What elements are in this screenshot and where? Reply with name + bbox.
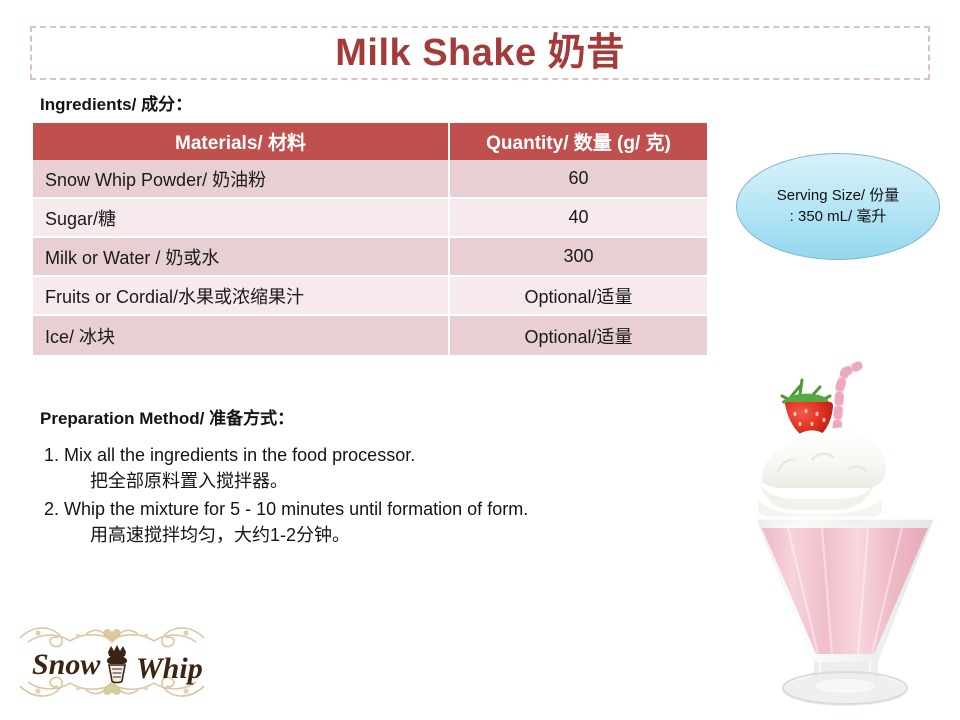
- preparation-heading: Preparation Method/ 准备方式：: [40, 404, 294, 429]
- snow-whip-logo-icon: Snow Whip: [8, 612, 216, 712]
- cell-quantity: 60: [450, 160, 707, 199]
- table-row: Sugar/糖 40: [33, 199, 707, 238]
- cell-material: Snow Whip Powder/ 奶油粉: [33, 160, 450, 199]
- cell-material: Sugar/糖: [33, 199, 450, 238]
- whipped-cream-icon: [758, 428, 886, 527]
- serving-size-line-2: : 350 mL/ 毫升: [790, 207, 887, 227]
- glass-icon: [756, 518, 934, 706]
- table-body: Snow Whip Powder/ 奶油粉 60 Sugar/糖 40 Milk…: [33, 160, 707, 355]
- logo-word-whip: Whip: [136, 652, 203, 685]
- cupcake-icon: [107, 645, 127, 683]
- table-row: Ice/ 冰块 Optional/适量: [33, 316, 707, 355]
- table-header-row: Materials/ 材料 Quantity/ 数量 (g/ 克): [33, 123, 707, 160]
- cell-material: Milk or Water / 奶或水: [33, 238, 450, 277]
- list-item: 1. Mix all the ingredients in the food p…: [44, 442, 704, 494]
- serving-size-badge: Serving Size/ 份量 : 350 mL/ 毫升: [736, 153, 940, 260]
- title-box: Milk Shake 奶昔: [30, 26, 930, 80]
- cell-quantity: 40: [450, 199, 707, 238]
- table-row: Milk or Water / 奶或水 300: [33, 238, 707, 277]
- cell-material: Ice/ 冰块: [33, 316, 450, 355]
- column-header-quantity: Quantity/ 数量 (g/ 克): [450, 123, 707, 160]
- ingredients-table: Materials/ 材料 Quantity/ 数量 (g/ 克) Snow W…: [33, 123, 707, 355]
- cell-quantity: Optional/适量: [450, 277, 707, 316]
- ingredients-heading: Ingredients/ 成分：: [40, 90, 192, 115]
- list-item: 2. Whip the mixture for 5 - 10 minutes u…: [44, 496, 704, 548]
- page-title: Milk Shake 奶昔: [335, 34, 624, 72]
- cell-quantity: 300: [450, 238, 707, 277]
- logo-word-snow: Snow: [32, 648, 101, 681]
- step-text-english: 2. Whip the mixture for 5 - 10 minutes u…: [44, 496, 704, 522]
- cell-quantity: Optional/适量: [450, 316, 707, 355]
- column-header-materials: Materials/ 材料: [33, 123, 450, 160]
- milkshake-illustration-icon: [740, 332, 950, 710]
- milkshake-image: [740, 332, 950, 710]
- slide-canvas: Milk Shake 奶昔 Ingredients/ 成分： Materials…: [0, 0, 960, 720]
- table-header: Materials/ 材料 Quantity/ 数量 (g/ 克): [33, 123, 707, 160]
- step-text-chinese: 把全部原料置入搅拌器。: [90, 468, 704, 494]
- brand-logo: Snow Whip: [8, 612, 216, 712]
- serving-size-line-1: Serving Size/ 份量: [777, 186, 900, 206]
- cell-material: Fruits or Cordial/水果或浓缩果汁: [33, 277, 450, 316]
- table-row: Snow Whip Powder/ 奶油粉 60: [33, 160, 707, 199]
- step-text-chinese: 用高速搅拌均匀，大约1-2分钟。: [90, 522, 704, 548]
- step-text-english: 1. Mix all the ingredients in the food p…: [44, 442, 704, 468]
- preparation-steps-list: 1. Mix all the ingredients in the food p…: [44, 442, 704, 550]
- table-row: Fruits or Cordial/水果或浓缩果汁 Optional/适量: [33, 277, 707, 316]
